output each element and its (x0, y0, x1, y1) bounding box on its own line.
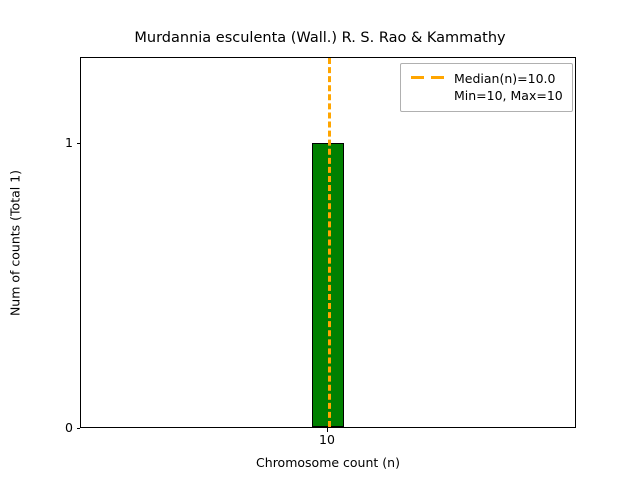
y-axis-label: Num of counts (Total 1) (8, 169, 23, 315)
y-tick-mark-0 (77, 428, 81, 429)
y-axis-label-container: Num of counts (Total 1) (0, 57, 30, 428)
legend-label-range: Min=10, Max=10 (454, 87, 563, 104)
median-line (328, 58, 331, 427)
chart-figure: Murdannia esculenta (Wall.) R. S. Rao & … (0, 0, 640, 480)
x-axis-label: Chromosome count (n) (80, 455, 576, 470)
x-tick-label-10: 10 (319, 434, 335, 447)
y-tick-label-1: 1 (65, 137, 73, 150)
y-tick-label-0: 0 (65, 422, 73, 435)
plot-area (80, 57, 576, 428)
legend: Median(n)=10.0 Min=10, Max=10 (400, 63, 573, 112)
legend-dashed-line-icon (410, 70, 446, 85)
chart-title: Murdannia esculenta (Wall.) R. S. Rao & … (0, 30, 640, 46)
legend-label-median: Median(n)=10.0 (454, 70, 563, 87)
legend-text: Median(n)=10.0 Min=10, Max=10 (454, 70, 563, 104)
x-tick-mark-10 (327, 428, 328, 432)
